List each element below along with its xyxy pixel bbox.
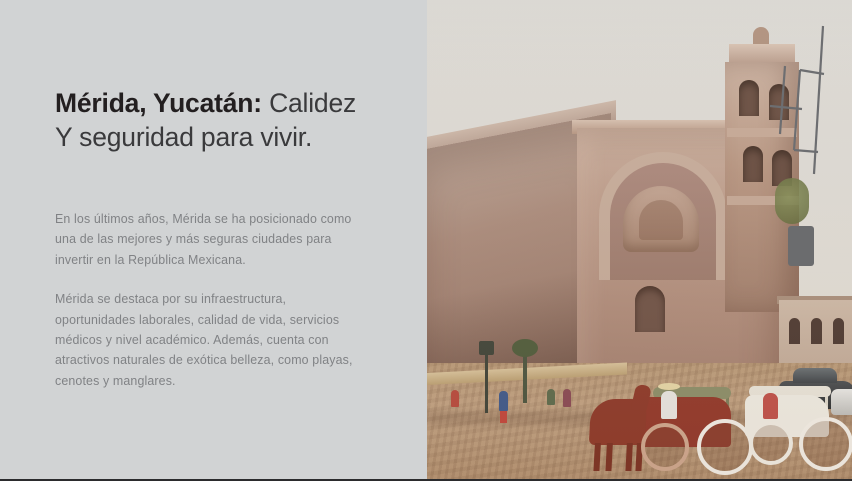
parked-car-white	[831, 389, 852, 415]
paragraph-1: En los últimos años, Mérida se ha posici…	[55, 209, 354, 270]
carriage-driver	[661, 391, 677, 419]
body-copy: En los últimos años, Mérida se ha posici…	[55, 209, 373, 391]
pedestrian	[499, 391, 508, 411]
headline-light: Calidez	[262, 88, 356, 118]
antenna-line-vertical-mid	[794, 70, 800, 150]
grey-rectangle-decoration	[788, 226, 814, 266]
colonial-window	[811, 318, 822, 344]
page-title: Mérida, Yucatán: Calidez Y seguridad par…	[55, 86, 405, 154]
arch-relief-carving	[623, 186, 699, 252]
carriage-wheel	[749, 421, 793, 465]
carriage-wheel	[799, 417, 852, 471]
carriage-wheel	[641, 423, 689, 471]
carriage-passenger	[763, 393, 778, 419]
slide-canvas: Mérida, Yucatán: Calidez Y seguridad par…	[0, 0, 852, 481]
pedestrian	[547, 389, 555, 405]
headline-line-two: Y seguridad para vivir.	[55, 122, 312, 152]
text-column: Mérida, Yucatán: Calidez Y seguridad par…	[55, 86, 405, 391]
carriage-horse	[589, 399, 647, 445]
plaza-tree	[523, 351, 527, 403]
antenna-line-vertical-short	[780, 66, 785, 134]
colonial-window	[789, 318, 800, 344]
paragraph-2: Mérida se destaca por su infraestructura…	[55, 289, 354, 391]
antenna-line-decoration	[744, 24, 852, 194]
street-lamp	[485, 353, 488, 413]
facade-niche	[635, 286, 665, 332]
colonial-window	[833, 318, 844, 344]
pedestrian	[451, 390, 459, 407]
headline-strong: Mérida, Yucatán:	[55, 88, 262, 118]
pedestrian	[563, 389, 571, 407]
